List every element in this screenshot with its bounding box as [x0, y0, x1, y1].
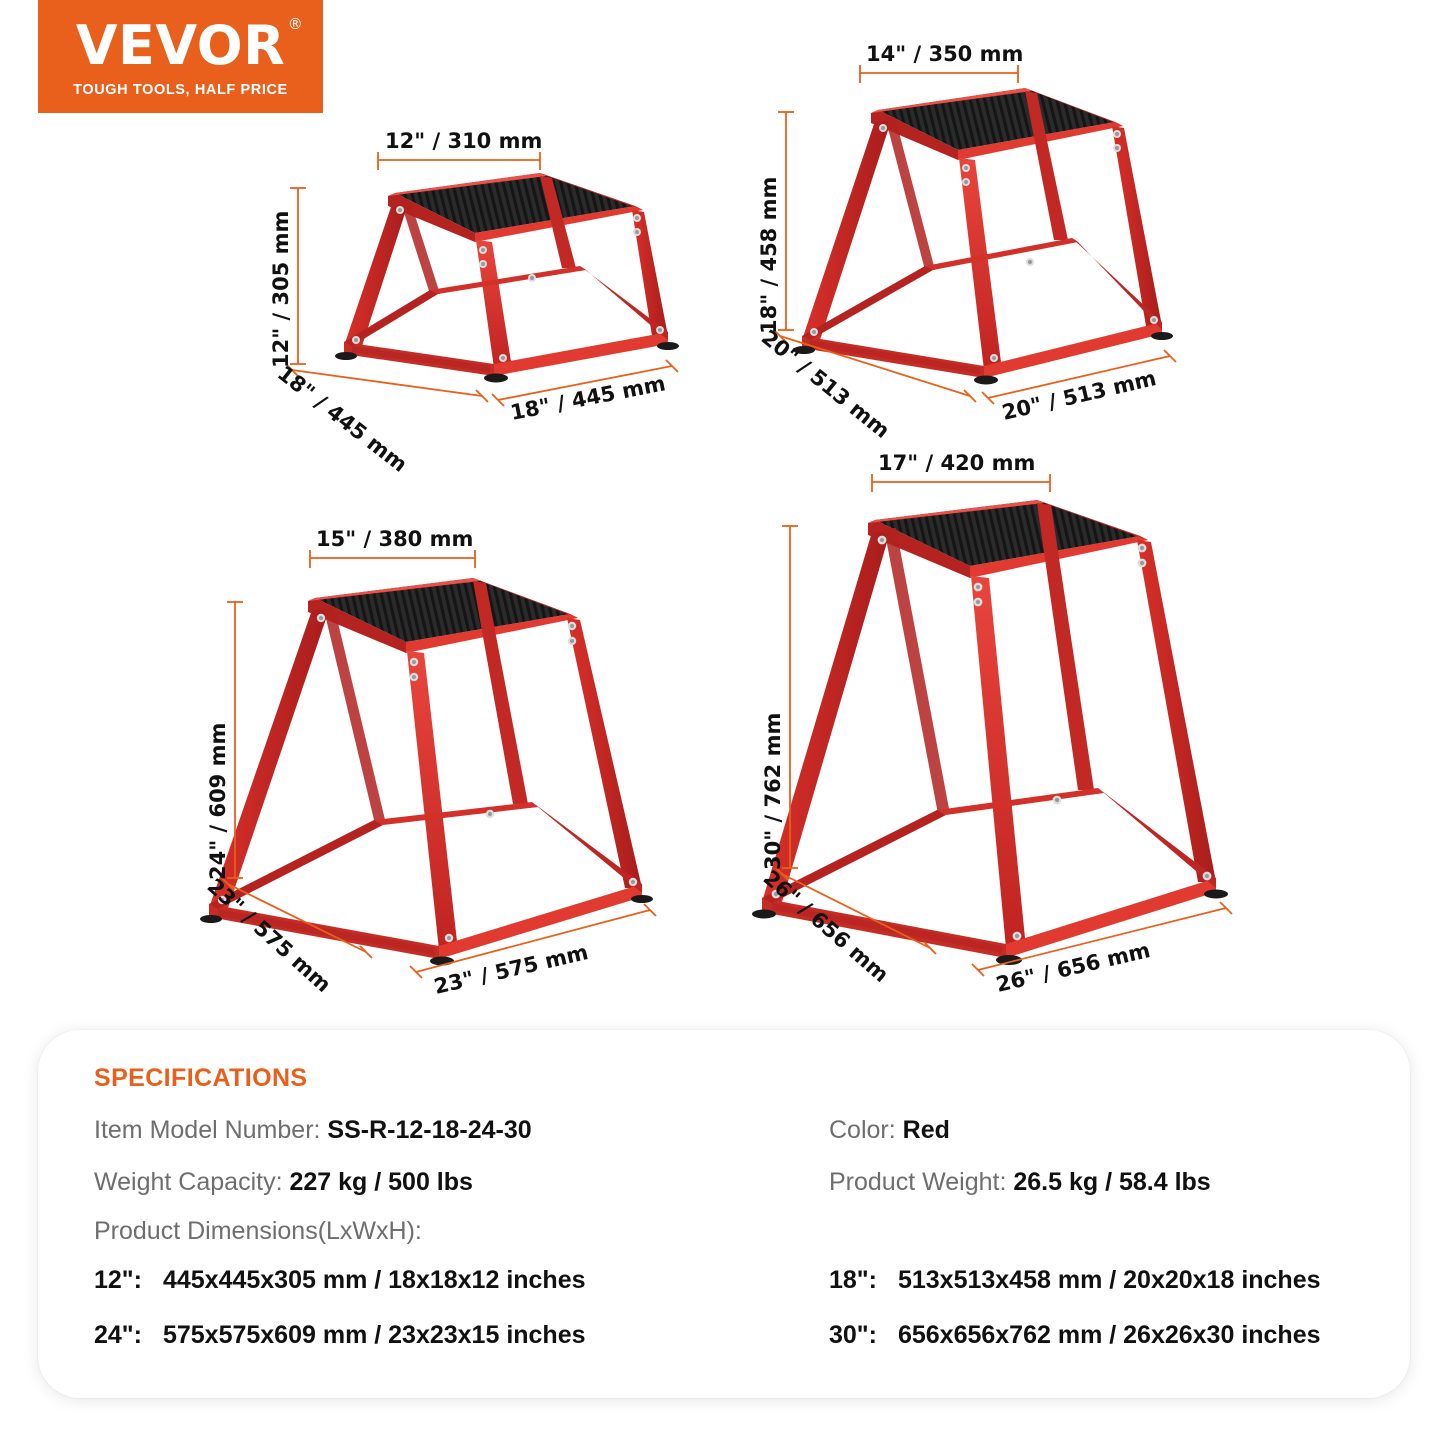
dimension-row-24: 24": 575x575x609 mm / 23x23x15 inches [94, 1321, 829, 1350]
plyo-box-12-body [335, 173, 679, 383]
plyo-box-12-figure: 12" / 310 mm 12" / 305 mm 18" / 445 mm 1… [240, 118, 700, 428]
spec-weight-row: Product Weight: 26.5 kg / 58.4 lbs [829, 1167, 1354, 1197]
plyo-box-18-base-width-label: 20" / 513 mm [1000, 366, 1159, 425]
plyo-box-24-figure: 15" / 380 mm 24" / 609 mm 23" / 575 mm 2… [190, 520, 690, 1010]
dimension-row-18-size: 18": [829, 1266, 877, 1294]
plyo-box-12-top-width-label: 12" / 310 mm [385, 129, 542, 153]
dimension-row-30-size: 30": [829, 1321, 877, 1349]
spec-color-value: Red [903, 1116, 950, 1144]
plyo-box-30-drawing: 17" / 420 mm 30" / 762 mm 26" / 656 mm 2… [720, 440, 1290, 1010]
plyo-box-30-figure: 17" / 420 mm 30" / 762 mm 26" / 656 mm 2… [720, 440, 1290, 1010]
plyo-box-12-depth-label: 18" / 445 mm [273, 361, 412, 477]
logo-wordmark-text: VEVOR [76, 14, 286, 77]
product-spec-page: VEVOR ® TOUGH TOOLS, HALF PRICE [0, 0, 1445, 1445]
spec-dimensions-label: Product Dimensions(LxWxH): [94, 1217, 1354, 1246]
spec-dimensions-grid: 12": 445x445x305 mm / 18x18x12 inches 18… [94, 1266, 1354, 1350]
plyo-box-30-top-width-label: 17" / 420 mm [878, 451, 1035, 475]
dimension-row-24-size: 24": [94, 1321, 142, 1349]
dimension-row-12-value: 445x445x305 mm / 18x18x12 inches [163, 1266, 586, 1294]
dimension-row-24-value: 575x575x609 mm / 23x23x15 inches [163, 1321, 586, 1349]
plyo-box-24-body [200, 578, 653, 966]
spec-capacity-value: 227 kg / 500 lbs [289, 1168, 472, 1196]
dimension-row-18-value: 513x513x458 mm / 20x20x18 inches [898, 1266, 1321, 1294]
spec-color-row: Color: Red [829, 1115, 1354, 1145]
dimension-row-12: 12": 445x445x305 mm / 18x18x12 inches [94, 1266, 829, 1295]
plyo-box-18-height-label: 18" / 458 mm [757, 177, 781, 334]
logo-wordmark: VEVOR ® [76, 19, 286, 73]
logo-tagline: TOUGH TOOLS, HALF PRICE [73, 82, 288, 98]
vevor-logo: VEVOR ® TOUGH TOOLS, HALF PRICE [38, 0, 323, 113]
plyo-box-18-top-width-label: 14" / 350 mm [866, 42, 1023, 66]
spec-model-label: Item Model Number: [94, 1116, 320, 1144]
dimension-row-12-size: 12": [94, 1266, 142, 1294]
spec-model-row: Item Model Number: SS-R-12-18-24-30 [94, 1115, 829, 1145]
plyo-box-12-base-width-label: 18" / 445 mm [508, 371, 667, 425]
spec-weight-label: Product Weight: [829, 1168, 1006, 1196]
specifications-grid: Item Model Number: SS-R-12-18-24-30 Colo… [94, 1115, 1354, 1197]
spec-capacity-row: Weight Capacity: 227 kg / 500 lbs [94, 1167, 829, 1197]
dimension-row-30-value: 656x656x762 mm / 26x26x30 inches [898, 1321, 1321, 1349]
plyo-box-12-drawing: 12" / 310 mm 12" / 305 mm 18" / 445 mm 1… [240, 118, 700, 428]
plyo-box-18-figure: 14" / 350 mm 18" / 458 mm 20" / 513 mm 2… [730, 40, 1210, 430]
plyo-box-24-top-width-label: 15" / 380 mm [316, 527, 473, 551]
plyo-box-30-height-label: 30" / 762 mm [761, 713, 785, 870]
plyo-box-24-height-label: 24" / 609 mm [206, 723, 230, 880]
plyo-box-24-drawing: 15" / 380 mm 24" / 609 mm 23" / 575 mm 2… [190, 520, 690, 1010]
plyo-box-18-body [793, 88, 1173, 385]
plyo-box-18-drawing: 14" / 350 mm 18" / 458 mm 20" / 513 mm 2… [730, 40, 1210, 430]
dimension-row-30: 30": 656x656x762 mm / 26x26x30 inches [829, 1321, 1354, 1350]
registered-trademark-icon: ® [288, 17, 304, 32]
specifications-title: SPECIFICATIONS [94, 1064, 1354, 1093]
spec-weight-value: 26.5 kg / 58.4 lbs [1013, 1168, 1210, 1196]
spec-color-label: Color: [829, 1116, 896, 1144]
spec-capacity-label: Weight Capacity: [94, 1168, 283, 1196]
spec-model-value: SS-R-12-18-24-30 [327, 1116, 531, 1144]
specifications-card: SPECIFICATIONS Item Model Number: SS-R-1… [38, 1030, 1410, 1398]
dimension-row-18: 18": 513x513x458 mm / 20x20x18 inches [829, 1266, 1354, 1295]
plyo-box-12-height-label: 12" / 305 mm [269, 211, 293, 368]
